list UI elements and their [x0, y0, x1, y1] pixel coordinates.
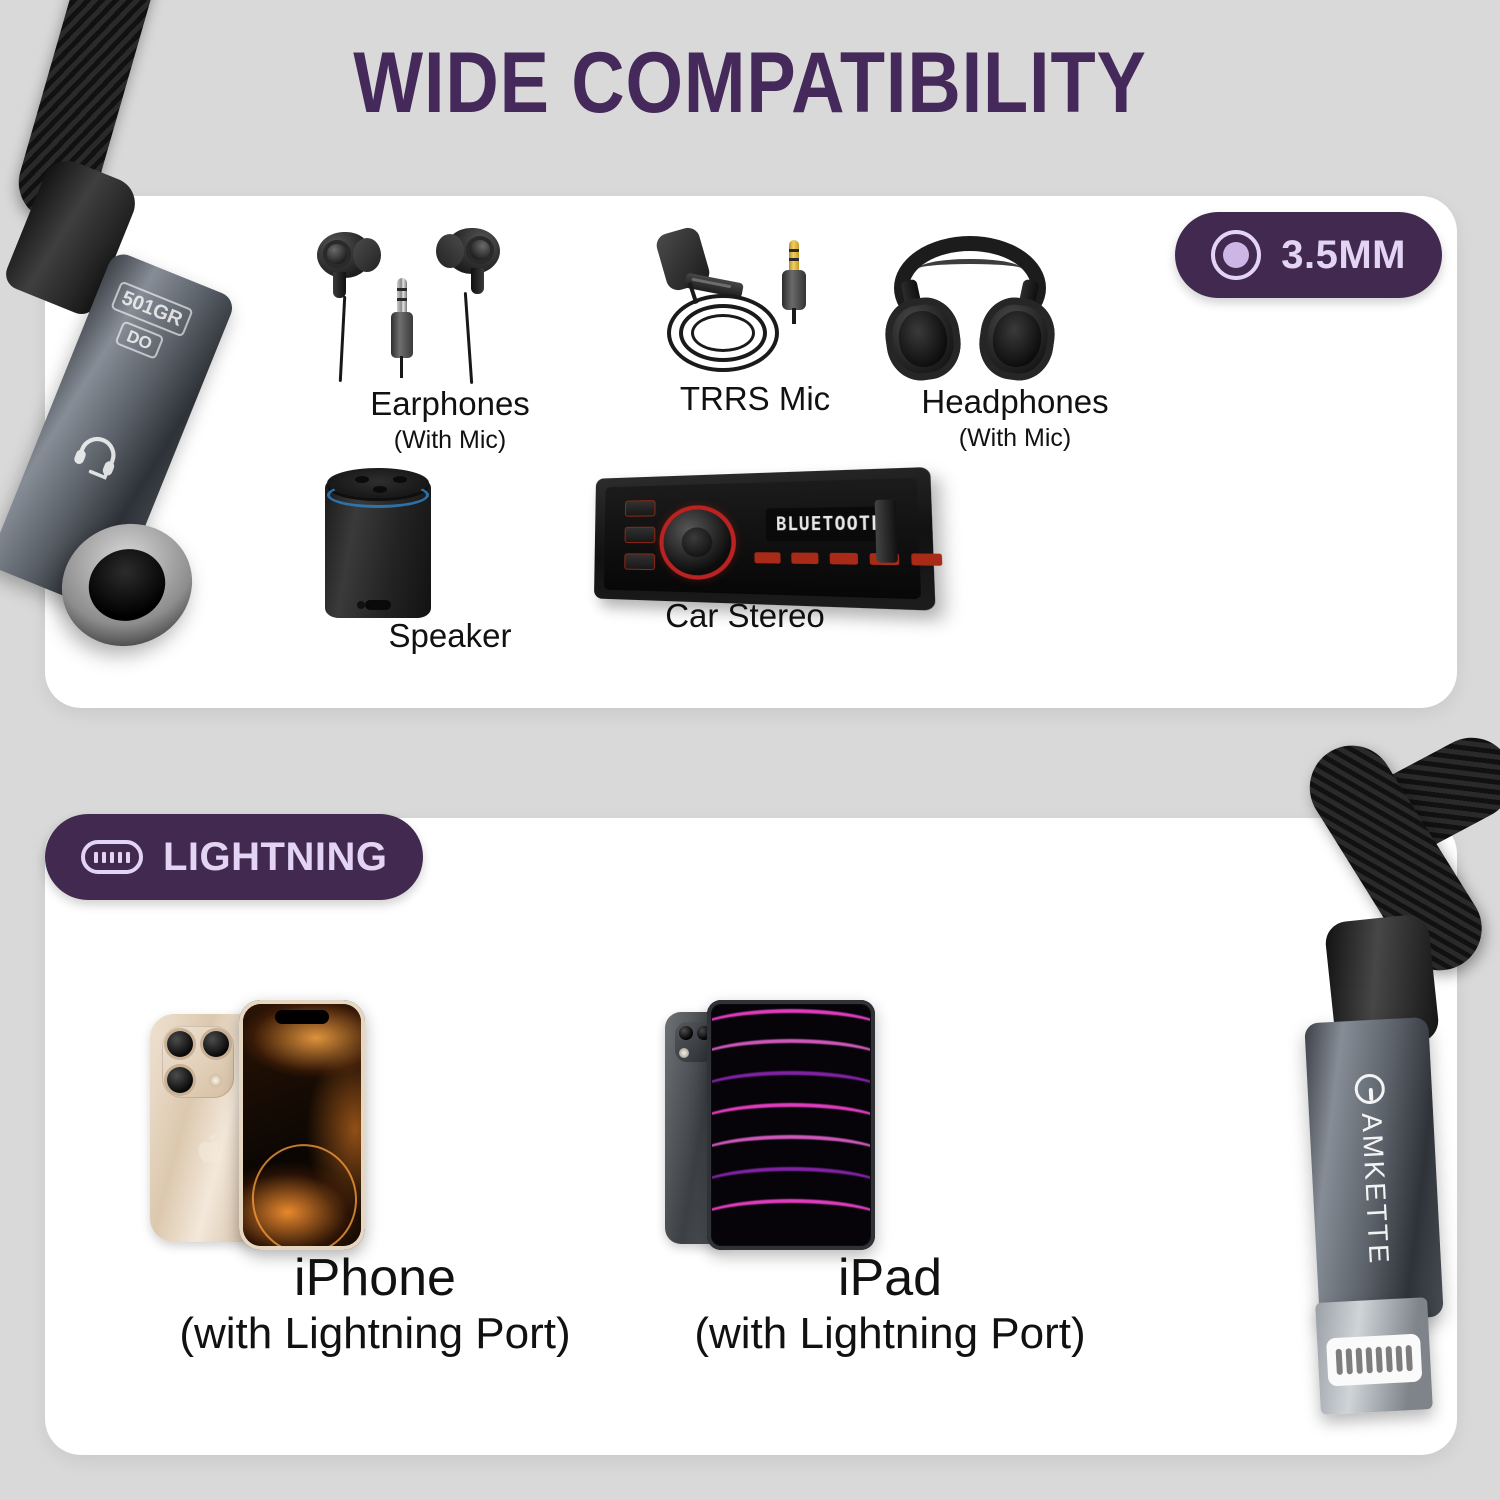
device-sublabel: (with Lightning Port): [150, 1309, 600, 1359]
audio-jack-circle-icon: [1211, 230, 1261, 280]
device-speaker: Speaker: [325, 468, 575, 654]
device-label: Speaker: [325, 618, 575, 654]
car-stereo-icon: BLUETOOTH: [595, 478, 895, 598]
lavalier-mic-icon: [645, 226, 865, 381]
car-stereo-display-text: BLUETOOTH: [776, 512, 885, 535]
badge-3-5mm: 3.5MM: [1175, 212, 1442, 298]
badge-lightning-label: LIGHTNING: [163, 835, 387, 880]
device-label: Headphones: [880, 384, 1150, 420]
device-earphones: Earphones (With Mic): [315, 226, 585, 455]
device-label: iPhone: [150, 1250, 600, 1307]
device-label: TRRS Mic: [645, 381, 865, 417]
device-car-stereo: BLUETOOTH Car Stereo: [595, 478, 895, 634]
device-sublabel: (with Lightning Port): [665, 1309, 1115, 1359]
device-headphones: Headphones (With Mic): [880, 236, 1150, 453]
badge-lightning: LIGHTNING: [45, 814, 423, 900]
device-trrs-mic: TRRS Mic: [645, 226, 865, 417]
headphones-icon: [880, 236, 1150, 384]
badge-3-5mm-label: 3.5MM: [1281, 233, 1406, 278]
earphones-icon: [315, 226, 585, 386]
ipad-icon: [665, 1000, 1115, 1250]
device-iphone: iPhone (with Lightning Port): [150, 1000, 600, 1359]
device-sublabel: (With Mic): [880, 424, 1150, 453]
lightning-port-icon: [81, 840, 143, 874]
device-label: iPad: [665, 1250, 1115, 1307]
smart-speaker-icon: [325, 468, 575, 618]
device-label: Earphones: [315, 386, 585, 422]
page-title: WIDE COMPATIBILITY: [105, 34, 1395, 133]
apple-logo-icon: [196, 1132, 226, 1166]
device-sublabel: (With Mic): [315, 426, 585, 455]
iphone-icon: [150, 1000, 600, 1250]
device-ipad: iPad (with Lightning Port): [665, 1000, 1115, 1359]
